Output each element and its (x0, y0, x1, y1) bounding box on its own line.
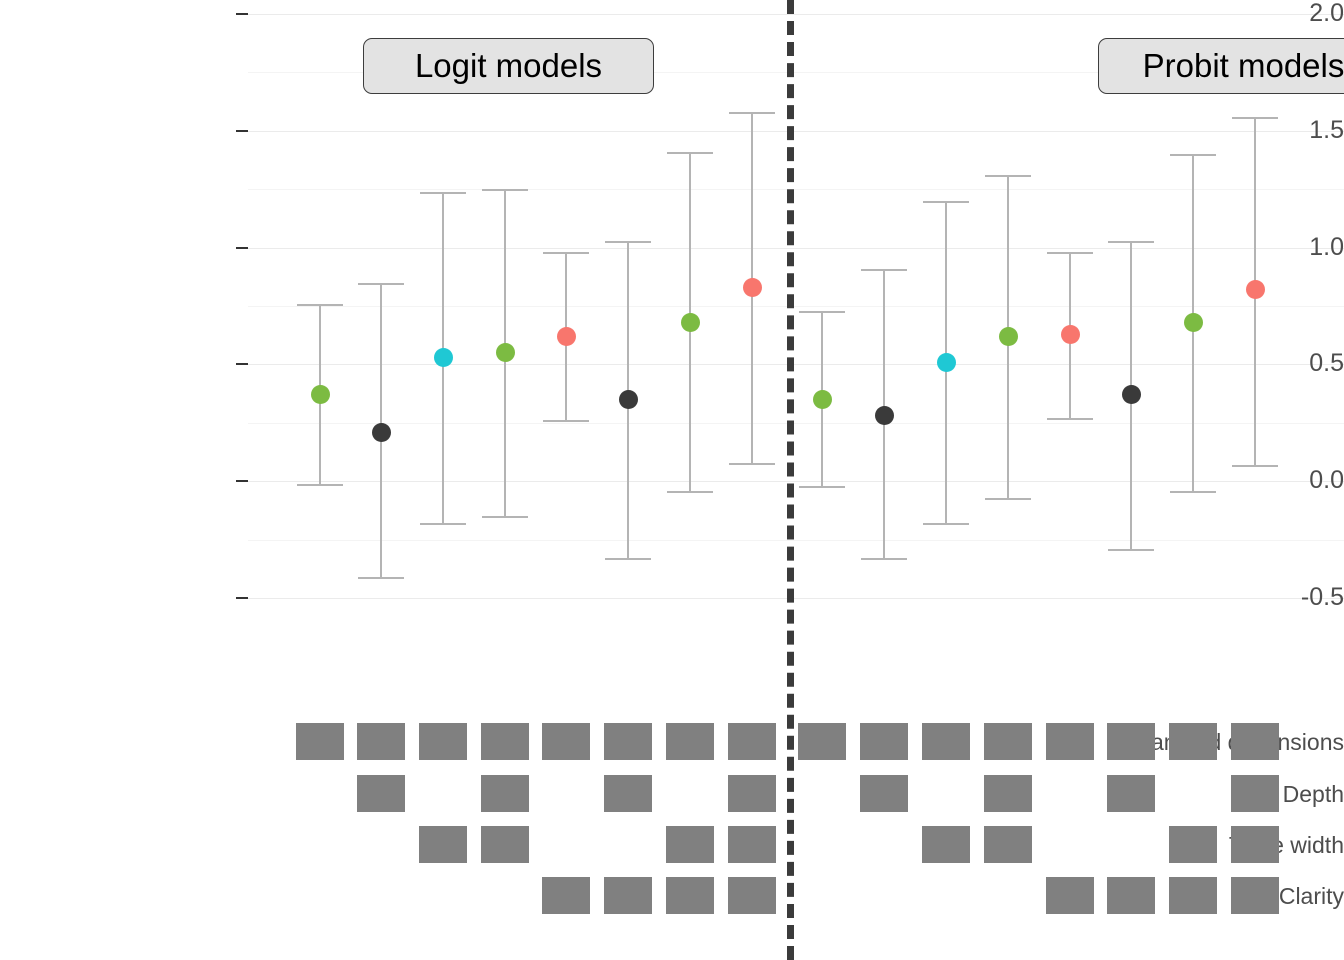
spec-tile[interactable] (922, 723, 970, 760)
spec-tile[interactable] (357, 723, 405, 760)
spec-tile[interactable] (728, 723, 776, 760)
spec-tile[interactable] (984, 723, 1032, 760)
spec-tile[interactable] (984, 826, 1032, 863)
spec-tile[interactable] (1231, 775, 1279, 812)
spec-tile[interactable] (419, 826, 467, 863)
specification-curve-figure: 2.01.51.00.50.0-0.5 Logit models Probit … (0, 0, 1344, 960)
spec-tile[interactable] (1231, 826, 1279, 863)
spec-tile[interactable] (481, 826, 529, 863)
spec-tile[interactable] (542, 877, 590, 914)
spec-tile[interactable] (1169, 826, 1217, 863)
spec-tile[interactable] (728, 826, 776, 863)
spec-tile[interactable] (666, 723, 714, 760)
spec-tile[interactable] (728, 775, 776, 812)
spec-tile[interactable] (419, 723, 467, 760)
spec-tile[interactable] (481, 723, 529, 760)
spec-tile[interactable] (1046, 723, 1094, 760)
spec-tile[interactable] (922, 826, 970, 863)
spec-tile[interactable] (984, 775, 1032, 812)
spec-tile[interactable] (1107, 775, 1155, 812)
spec-tile[interactable] (1169, 723, 1217, 760)
spec-tile[interactable] (1046, 877, 1094, 914)
spec-tile[interactable] (666, 826, 714, 863)
spec-tile[interactable] (728, 877, 776, 914)
spec-tile[interactable] (296, 723, 344, 760)
spec-tile[interactable] (666, 877, 714, 914)
spec-tile[interactable] (1107, 877, 1155, 914)
spec-tile[interactable] (1231, 877, 1279, 914)
spec-tile[interactable] (1169, 877, 1217, 914)
spec-tile[interactable] (542, 723, 590, 760)
spec-tile[interactable] (860, 775, 908, 812)
spec-tile[interactable] (481, 775, 529, 812)
spec-tile[interactable] (357, 775, 405, 812)
spec-matrix (0, 0, 1344, 960)
spec-tile[interactable] (604, 877, 652, 914)
spec-tile[interactable] (1231, 723, 1279, 760)
spec-tile[interactable] (860, 723, 908, 760)
spec-tile[interactable] (604, 723, 652, 760)
spec-tile[interactable] (798, 723, 846, 760)
spec-tile[interactable] (604, 775, 652, 812)
spec-tile[interactable] (1107, 723, 1155, 760)
